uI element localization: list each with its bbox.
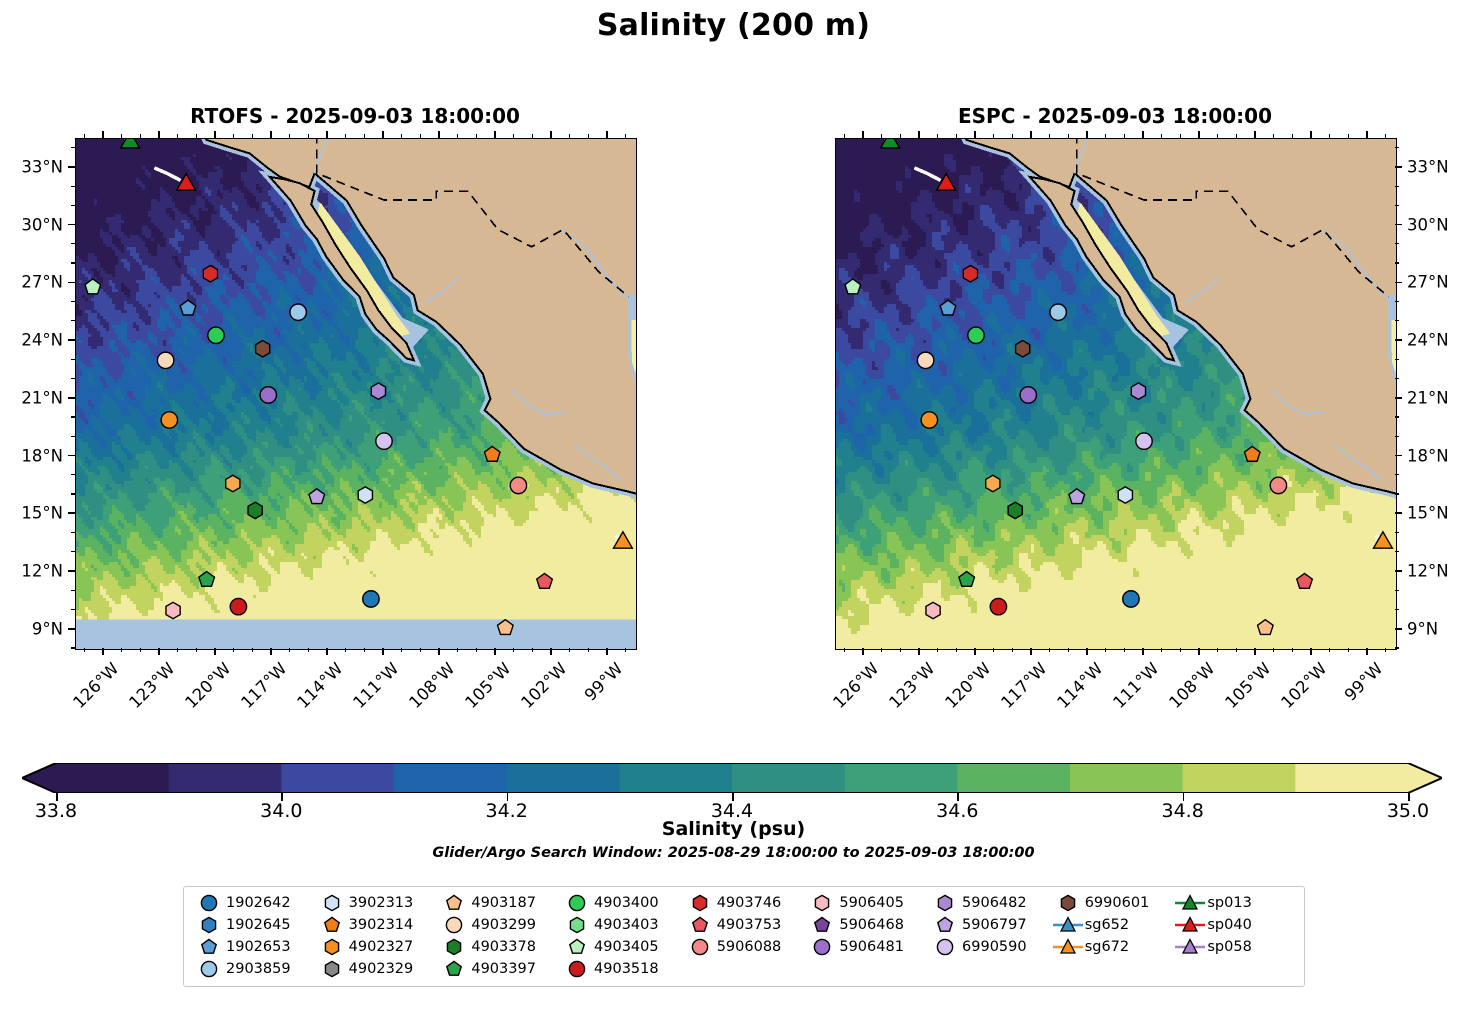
legend-marker-hexagon-icon <box>315 937 349 957</box>
legend-marker-circle-icon <box>928 937 962 957</box>
legend-marker-hexagon-icon <box>1051 893 1085 913</box>
marker-legend: 1902642390231349031874903400490374659064… <box>183 886 1305 987</box>
x-tick-minor <box>1161 134 1162 138</box>
legend-label: 4903753 <box>717 917 782 933</box>
legend-item-5906797[interactable]: 5906797 <box>928 915 1051 935</box>
x-tick-minor <box>1329 648 1330 652</box>
x-tick-minor <box>937 648 938 652</box>
x-tick-minor <box>625 648 626 652</box>
legend-item-2903859[interactable]: 2903859 <box>192 959 315 979</box>
y-tick-minor <box>71 647 75 648</box>
x-tick-top <box>1310 131 1312 138</box>
y-tick-minor <box>1395 474 1399 475</box>
legend-label: 4903378 <box>471 939 536 955</box>
legend-label: 4902327 <box>349 939 414 955</box>
x-tick-minor <box>420 134 421 138</box>
y-tick-minor <box>1395 416 1399 417</box>
legend-label: 6990601 <box>1085 895 1150 911</box>
x-tick-minor <box>1273 648 1274 652</box>
x-tick-minor <box>140 134 141 138</box>
legend-label: sg672 <box>1085 939 1129 955</box>
x-tick-top <box>1366 131 1368 138</box>
x-tick-minor <box>1068 648 1069 652</box>
x-tick-minor <box>625 134 626 138</box>
page-title: Salinity (200 m) <box>0 8 1467 43</box>
x-tick-minor <box>1012 134 1013 138</box>
x-tick-minor <box>588 648 589 652</box>
legend-marker-circle-icon <box>560 893 594 913</box>
map-panel-espc[interactable] <box>835 138 1397 650</box>
x-tick-minor <box>1124 134 1125 138</box>
legend-label: 5906088 <box>717 939 782 955</box>
x-tick-minor <box>233 648 234 652</box>
legend-marker-circle-icon <box>683 937 717 957</box>
legend-row: 1902645390231449032994903403490375359064… <box>192 915 1296 935</box>
x-tick <box>1086 648 1088 655</box>
x-tick-top <box>1030 131 1032 138</box>
x-tick-minor <box>1068 134 1069 138</box>
legend-label: 2903859 <box>226 961 291 977</box>
x-tick-minor <box>1329 134 1330 138</box>
x-tick-minor <box>569 648 570 652</box>
x-tick-minor <box>1124 648 1125 652</box>
colorbar-tick-label: 34.4 <box>711 800 753 822</box>
x-tick-minor <box>308 134 309 138</box>
x-tick-top <box>214 131 216 138</box>
x-tick-minor <box>84 648 85 652</box>
legend-label: 5906797 <box>962 917 1027 933</box>
legend-item-sp013[interactable]: sp013 <box>1173 893 1296 913</box>
legend-row: 1902653490232749033784903405590608859064… <box>192 937 1296 957</box>
x-tick <box>550 648 552 655</box>
x-tick-minor <box>1273 134 1274 138</box>
legend-item-4903753[interactable]: 4903753 <box>683 915 806 935</box>
legend-item-4903397[interactable]: 4903397 <box>437 959 560 979</box>
y-tick <box>1395 224 1402 226</box>
legend-cell-empty <box>928 959 1051 979</box>
y-tick-minor <box>1395 551 1399 552</box>
legend-item-4903403[interactable]: 4903403 <box>560 915 683 935</box>
legend-marker-circle-icon <box>192 959 226 979</box>
legend-marker-triangle-line-icon <box>1173 893 1207 913</box>
legend-label: 4903403 <box>594 917 659 933</box>
x-tick-minor <box>881 134 882 138</box>
x-tick <box>214 648 216 655</box>
x-tick-minor <box>196 134 197 138</box>
x-tick-minor <box>364 648 365 652</box>
y-tick-label: 27°N <box>0 273 63 292</box>
x-tick <box>438 648 440 655</box>
legend-item-6990590[interactable]: 6990590 <box>928 937 1051 957</box>
x-tick-minor <box>956 648 957 652</box>
x-tick-minor <box>588 134 589 138</box>
y-tick-minor <box>71 147 75 148</box>
x-tick <box>158 648 160 655</box>
legend-marker-triangle-line-icon <box>1173 915 1207 935</box>
colorbar-tick-label: 34.6 <box>936 800 978 822</box>
x-tick-minor <box>401 648 402 652</box>
y-tick <box>1395 512 1402 514</box>
y-tick-label: 24°N <box>0 331 63 350</box>
x-tick-minor <box>1049 134 1050 138</box>
x-tick-minor <box>1217 648 1218 652</box>
legend-marker-triangle-line-icon <box>1173 937 1207 957</box>
x-tick-minor <box>476 134 477 138</box>
x-tick-minor <box>956 134 957 138</box>
y-tick-label: 30°N <box>0 215 63 234</box>
x-tick-minor <box>844 648 845 652</box>
y-tick-minor <box>71 301 75 302</box>
y-tick <box>68 512 75 514</box>
legend-item-sp058[interactable]: sp058 <box>1173 937 1296 957</box>
x-tick-top <box>918 131 920 138</box>
legend-item-6990601[interactable]: 6990601 <box>1051 893 1174 913</box>
x-tick <box>1366 648 1368 655</box>
legend-label: sg652 <box>1085 917 1129 933</box>
y-tick-minor <box>71 436 75 437</box>
legend-label: 4902329 <box>349 961 414 977</box>
x-tick-top <box>862 131 864 138</box>
y-tick-minor <box>71 609 75 610</box>
x-tick <box>494 648 496 655</box>
x-tick-minor <box>1012 648 1013 652</box>
legend-marker-triangle-line-icon <box>1051 937 1085 957</box>
x-tick-minor <box>881 648 882 652</box>
y-tick-minor <box>71 359 75 360</box>
colorbar-tick-label: 35.0 <box>1387 800 1429 822</box>
x-tick-minor <box>140 648 141 652</box>
x-tick-minor <box>1161 648 1162 652</box>
y-tick-label: 15°N <box>0 504 63 523</box>
y-tick <box>68 224 75 226</box>
y-tick-minor <box>71 378 75 379</box>
legend-row: 2903859490232949033974903518 <box>192 959 1296 979</box>
x-tick-minor <box>289 648 290 652</box>
legend-item-4903746[interactable]: 4903746 <box>683 893 806 913</box>
legend-marker-circle-icon <box>805 937 839 957</box>
legend-label: 3902314 <box>349 917 414 933</box>
legend-label: 5906482 <box>962 895 1027 911</box>
x-tick-minor <box>364 134 365 138</box>
y-tick <box>68 339 75 341</box>
x-tick-minor <box>84 134 85 138</box>
map-panel-rtofs[interactable] <box>75 138 637 650</box>
legend-marker-pentagon-icon <box>437 893 471 913</box>
y-tick-minor <box>1395 532 1399 533</box>
x-tick-top <box>494 131 496 138</box>
y-tick-minor <box>1395 609 1399 610</box>
y-tick-minor <box>1395 647 1399 648</box>
x-tick-minor <box>532 134 533 138</box>
x-tick-minor <box>121 648 122 652</box>
y-tick-label: 9°N <box>0 619 63 638</box>
x-tick-minor <box>1348 134 1349 138</box>
legend-item-4903400[interactable]: 4903400 <box>560 893 683 913</box>
y-tick <box>68 628 75 630</box>
legend-marker-pentagon-icon <box>805 915 839 935</box>
x-tick <box>918 648 920 655</box>
legend-label: 4903405 <box>594 939 659 955</box>
legend-marker-hexagon-icon <box>315 893 349 913</box>
legend-cell-empty <box>1051 959 1174 979</box>
y-tick-minor <box>1395 359 1399 360</box>
legend-label: 6990590 <box>962 939 1027 955</box>
legend-item-1902642[interactable]: 1902642 <box>192 893 315 913</box>
y-tick-minor <box>71 590 75 591</box>
y-tick <box>1395 455 1402 457</box>
legend-item-5906481[interactable]: 5906481 <box>805 937 928 957</box>
x-tick-minor <box>900 134 901 138</box>
y-tick-minor <box>1395 262 1399 263</box>
x-tick-minor <box>1348 648 1349 652</box>
x-tick <box>1142 648 1144 655</box>
legend-item-1902653[interactable]: 1902653 <box>192 937 315 957</box>
x-tick-top <box>438 131 440 138</box>
x-tick <box>1254 648 1256 655</box>
y-tick-label: 12°N <box>0 562 63 581</box>
y-tick-minor <box>71 551 75 552</box>
y-tick-minor <box>71 186 75 187</box>
legend-label: 1902653 <box>226 939 291 955</box>
legend-marker-pentagon-icon <box>928 915 962 935</box>
colorbar-tick-label: 33.8 <box>35 800 77 822</box>
legend-marker-hexagon-icon <box>560 915 594 935</box>
x-tick-top <box>102 131 104 138</box>
legend-label: sp013 <box>1207 895 1251 911</box>
x-tick <box>862 648 864 655</box>
x-tick-minor <box>1105 648 1106 652</box>
legend-item-4903299[interactable]: 4903299 <box>437 915 560 935</box>
y-tick-label: 33°N <box>0 157 63 176</box>
x-tick-minor <box>1180 648 1181 652</box>
legend-label: 5906481 <box>839 939 904 955</box>
x-tick-minor <box>1385 648 1386 652</box>
colorbar-tick-label: 34.2 <box>486 800 528 822</box>
y-tick <box>68 397 75 399</box>
legend-item-4902327[interactable]: 4902327 <box>315 937 438 957</box>
legend-cell-empty <box>805 959 928 979</box>
legend-item-5906088[interactable]: 5906088 <box>683 937 806 957</box>
legend-marker-hexagon-icon <box>928 893 962 913</box>
legend-item-sg672[interactable]: sg672 <box>1051 937 1174 957</box>
legend-cell-empty <box>683 959 806 979</box>
x-tick-top <box>1254 131 1256 138</box>
search-window-subtitle: Glider/Argo Search Window: 2025-08-29 18… <box>0 845 1467 861</box>
x-tick-minor <box>457 134 458 138</box>
legend-item-5906482[interactable]: 5906482 <box>928 893 1051 913</box>
legend-item-3902313[interactable]: 3902313 <box>315 893 438 913</box>
y-tick-minor <box>71 205 75 206</box>
legend-label: 4903746 <box>717 895 782 911</box>
legend-row: 1902642390231349031874903400490374659064… <box>192 893 1296 913</box>
x-tick <box>382 648 384 655</box>
x-tick-top <box>550 131 552 138</box>
x-tick-minor <box>1217 134 1218 138</box>
legend-marker-pentagon-icon <box>437 959 471 979</box>
y-tick-label: 33°N <box>1407 157 1467 176</box>
x-tick-minor <box>420 648 421 652</box>
x-tick-minor <box>993 134 994 138</box>
y-tick <box>1395 397 1402 399</box>
legend-label: 1902645 <box>226 917 291 933</box>
panel-title-espc: ESPC - 2025-09-03 18:00:00 <box>835 104 1395 128</box>
y-tick-minor <box>1395 186 1399 187</box>
legend-marker-circle-icon <box>192 893 226 913</box>
legend-item-4903518[interactable]: 4903518 <box>560 959 683 979</box>
y-tick <box>68 166 75 168</box>
legend-cell-empty <box>1173 959 1296 979</box>
legend-marker-pentagon-icon <box>192 937 226 957</box>
y-tick-minor <box>1395 205 1399 206</box>
y-tick-minor <box>1395 301 1399 302</box>
y-tick-minor <box>1395 147 1399 148</box>
legend-marker-circle-icon <box>437 915 471 935</box>
legend-label: 4903397 <box>471 961 536 977</box>
y-tick-minor <box>71 416 75 417</box>
legend-label: 1902642 <box>226 895 291 911</box>
legend-item-5906468[interactable]: 5906468 <box>805 915 928 935</box>
y-tick-minor <box>71 532 75 533</box>
x-tick-top <box>1198 131 1200 138</box>
x-tick-minor <box>1049 648 1050 652</box>
x-tick-minor <box>345 648 346 652</box>
x-tick-minor <box>401 134 402 138</box>
legend-item-sg652[interactable]: sg652 <box>1051 915 1174 935</box>
legend-marker-pentagon-icon <box>315 915 349 935</box>
legend-marker-triangle-line-icon <box>1051 915 1085 935</box>
x-tick-minor <box>569 134 570 138</box>
y-tick-minor <box>71 262 75 263</box>
y-tick-minor <box>1395 493 1399 494</box>
x-tick-minor <box>308 648 309 652</box>
y-tick-label: 18°N <box>0 446 63 465</box>
y-tick-minor <box>71 320 75 321</box>
x-tick <box>326 648 328 655</box>
x-tick-minor <box>513 134 514 138</box>
panel-title-rtofs: RTOFS - 2025-09-03 18:00:00 <box>75 104 635 128</box>
x-tick-minor <box>345 134 346 138</box>
y-tick-minor <box>71 493 75 494</box>
legend-label: 4903518 <box>594 961 659 977</box>
y-tick <box>1395 628 1402 630</box>
legend-marker-hexagon-icon <box>683 893 717 913</box>
y-tick-label: 24°N <box>1407 331 1467 350</box>
legend-item-3902314[interactable]: 3902314 <box>315 915 438 935</box>
legend-item-1902645[interactable]: 1902645 <box>192 915 315 935</box>
y-tick <box>1395 282 1402 284</box>
x-tick <box>1030 648 1032 655</box>
x-tick-minor <box>289 134 290 138</box>
x-tick-minor <box>1292 134 1293 138</box>
x-tick-minor <box>844 134 845 138</box>
x-tick-minor <box>476 648 477 652</box>
y-tick-label: 12°N <box>1407 562 1467 581</box>
y-tick-minor <box>1395 590 1399 591</box>
legend-label: 4903187 <box>471 895 536 911</box>
y-tick <box>68 282 75 284</box>
y-tick <box>1395 339 1402 341</box>
x-tick-top <box>606 131 608 138</box>
y-tick <box>68 570 75 572</box>
y-tick-label: 15°N <box>1407 504 1467 523</box>
x-tick <box>606 648 608 655</box>
x-tick-top <box>974 131 976 138</box>
x-tick-minor <box>1105 134 1106 138</box>
legend-marker-pentagon-icon <box>683 915 717 935</box>
y-tick <box>1395 570 1402 572</box>
x-tick-minor <box>1236 648 1237 652</box>
colorbar-tick-label: 34.0 <box>260 800 302 822</box>
y-tick-minor <box>1395 378 1399 379</box>
x-tick-minor <box>252 648 253 652</box>
y-tick <box>1395 166 1402 168</box>
x-tick-minor <box>252 134 253 138</box>
x-tick-minor <box>1180 134 1181 138</box>
legend-label: sp058 <box>1207 939 1251 955</box>
x-tick <box>270 648 272 655</box>
legend-item-sp040[interactable]: sp040 <box>1173 915 1296 935</box>
legend-marker-circle-icon <box>560 959 594 979</box>
x-tick-top <box>1086 131 1088 138</box>
legend-label: 5906405 <box>839 895 904 911</box>
legend-item-4902329[interactable]: 4902329 <box>315 959 438 979</box>
y-tick-label: 18°N <box>1407 446 1467 465</box>
legend-marker-hexagon-icon <box>437 937 471 957</box>
x-tick-minor <box>1292 648 1293 652</box>
legend-marker-hexagon-icon <box>315 959 349 979</box>
legend-label: 4903299 <box>471 917 536 933</box>
legend-label: sp040 <box>1207 917 1251 933</box>
legend-label: 5906468 <box>839 917 904 933</box>
x-tick-minor <box>900 648 901 652</box>
x-tick-minor <box>513 648 514 652</box>
x-tick-minor <box>196 648 197 652</box>
legend-label: 4903400 <box>594 895 659 911</box>
legend-item-4903187[interactable]: 4903187 <box>437 893 560 913</box>
x-tick-minor <box>1236 134 1237 138</box>
colorbar-tick-label: 34.8 <box>1162 800 1204 822</box>
x-tick <box>1310 648 1312 655</box>
colorbar <box>22 763 1442 793</box>
x-tick-top <box>270 131 272 138</box>
x-tick-minor <box>1385 134 1386 138</box>
x-tick-top <box>1142 131 1144 138</box>
x-tick-top <box>382 131 384 138</box>
x-tick-minor <box>532 648 533 652</box>
legend-marker-pentagon-icon <box>560 937 594 957</box>
x-tick-top <box>158 131 160 138</box>
x-tick-minor <box>993 648 994 652</box>
legend-label: 3902313 <box>349 895 414 911</box>
y-tick-minor <box>1395 436 1399 437</box>
x-tick-minor <box>457 648 458 652</box>
legend-item-4903378[interactable]: 4903378 <box>437 937 560 957</box>
x-tick-top <box>326 131 328 138</box>
y-tick-label: 9°N <box>1407 619 1467 638</box>
legend-marker-hexagon-icon <box>192 915 226 935</box>
legend-marker-hexagon-icon <box>805 893 839 913</box>
legend-item-5906405[interactable]: 5906405 <box>805 893 928 913</box>
y-tick-minor <box>1395 243 1399 244</box>
x-tick-minor <box>177 134 178 138</box>
y-tick-minor <box>1395 320 1399 321</box>
x-tick <box>102 648 104 655</box>
legend-item-4903405[interactable]: 4903405 <box>560 937 683 957</box>
y-tick <box>68 455 75 457</box>
y-tick-label: 21°N <box>1407 388 1467 407</box>
x-tick <box>974 648 976 655</box>
x-tick-minor <box>177 648 178 652</box>
